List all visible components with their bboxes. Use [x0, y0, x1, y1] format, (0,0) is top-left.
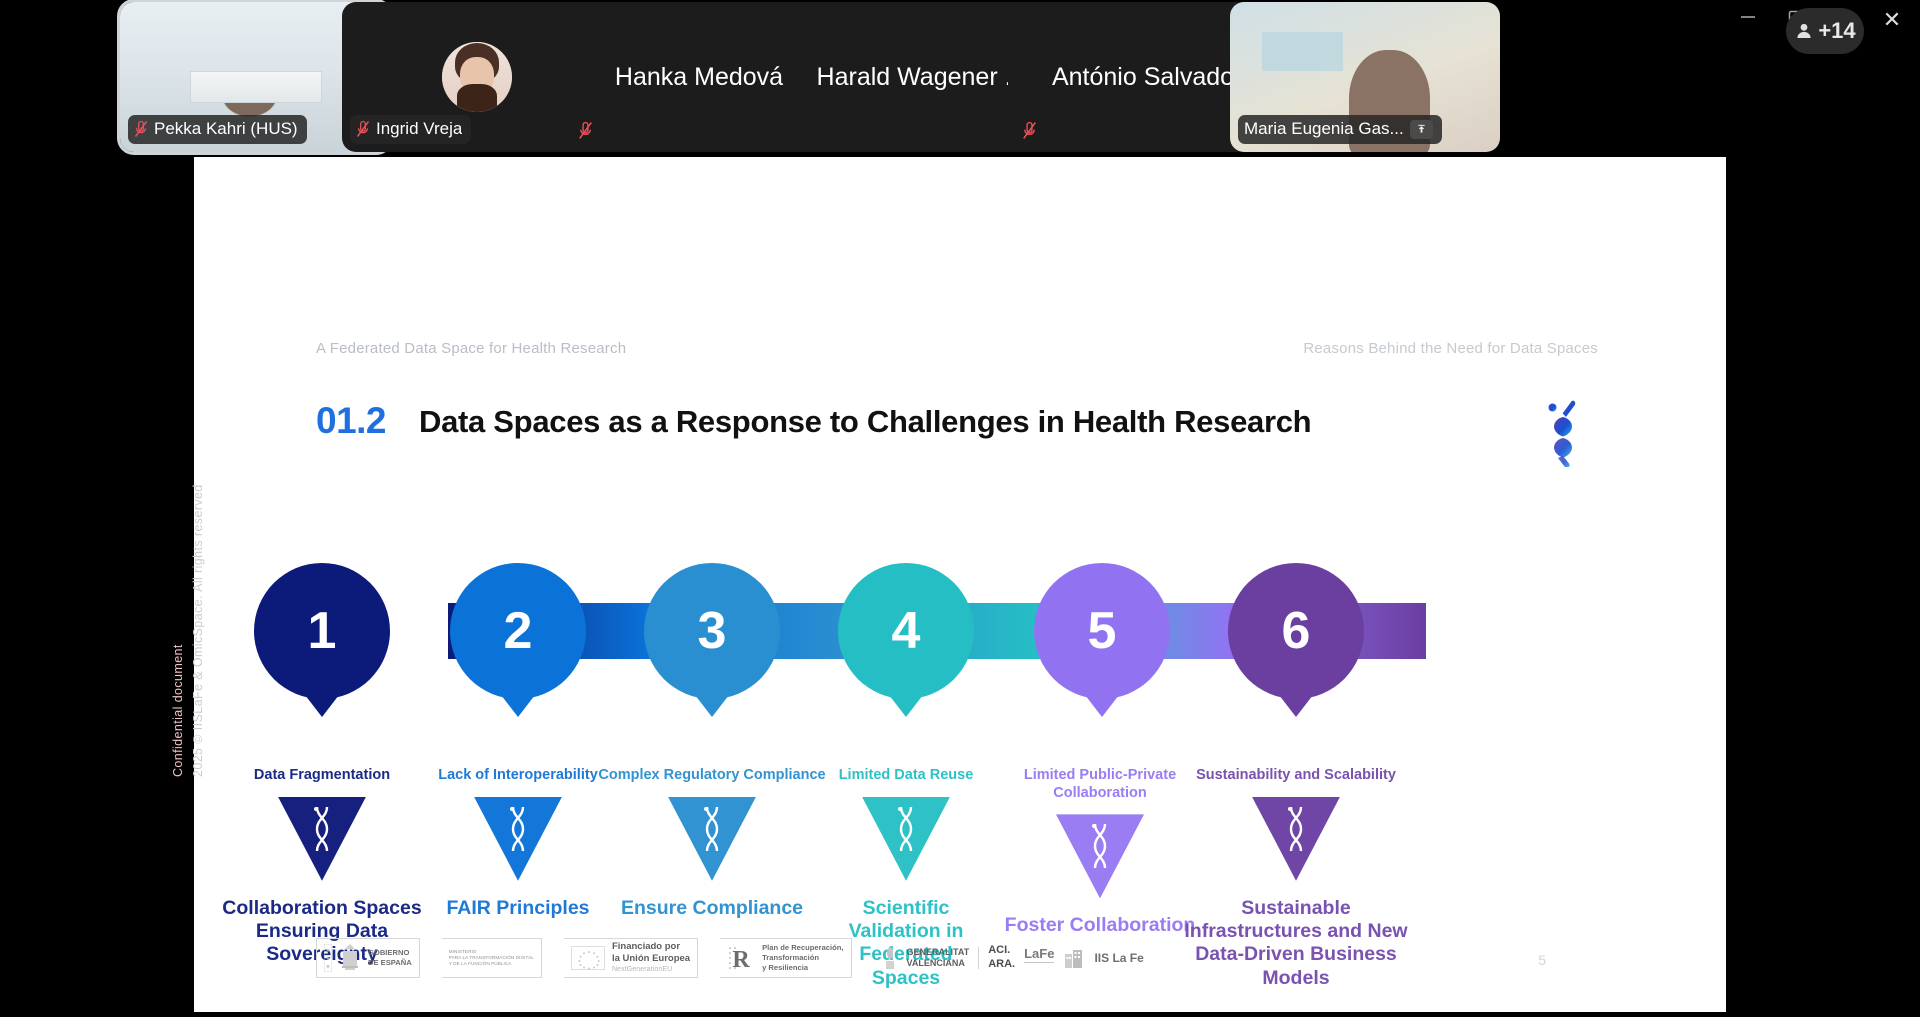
mic-off-icon: [356, 120, 370, 138]
building-icon: [1063, 947, 1085, 969]
divider: [978, 947, 979, 969]
timeline-node-4[interactable]: 4: [838, 563, 974, 699]
problem-label: Sustainability and Scalability: [1181, 767, 1411, 785]
down-triangle: [1056, 814, 1144, 898]
presentation-slide[interactable]: A Federated Data Space for Health Resear…: [194, 157, 1726, 1012]
plan-r-icon: R: [727, 944, 755, 972]
ministerio-label: MINISTERIO PARA LA TRANSFORMACIÓN DIGITA…: [449, 949, 534, 968]
gobierno-label: GOBIERNODE ESPAÑA: [368, 948, 412, 968]
footer-logo-strip: ★ ★ ★ GOBIERNODE ESPAÑA MINISTERIO PARA …: [316, 938, 1144, 978]
helix-icon: [1283, 803, 1309, 859]
eu-funding-label: Financiado por la Unión Europea NextGene…: [612, 941, 690, 974]
flag-icon: ★ ★ ★: [324, 944, 332, 972]
solution-label: Sustainable Infrastructures and New Data…: [1181, 897, 1411, 991]
helix-icon: [505, 803, 531, 859]
svg-text:★: ★: [326, 948, 331, 954]
minimize-icon[interactable]: [1740, 10, 1756, 24]
ministerio-logo: MINISTERIO PARA LA TRANSFORMACIÓN DIGITA…: [442, 938, 542, 978]
down-triangle: [862, 797, 950, 881]
coat-of-arms-icon: [339, 943, 361, 973]
timeline-node-6[interactable]: 6: [1228, 563, 1364, 699]
mic-off-icon: [1022, 121, 1037, 140]
participant-name-chip: Pekka Kahri (HUS): [128, 115, 307, 144]
person-icon: [1794, 21, 1814, 41]
participant-name-chip: Ingrid Vreja: [350, 115, 471, 144]
timeline-node-3[interactable]: 3: [644, 563, 780, 699]
participants-count-badge[interactable]: +14: [1786, 8, 1864, 54]
helix-icon: [893, 803, 919, 859]
timeline-node-5[interactable]: 5: [1034, 563, 1170, 699]
aci-ara-label: ACI. ARA.: [988, 944, 1015, 972]
svg-text:★: ★: [326, 964, 331, 970]
plan-recuperacion-logo: R Plan de Recuperación, Transformación y…: [720, 938, 851, 978]
video-tile-strip: Pekka Kahri (HUS) Ingrid Vreja Hanka Med…: [0, 0, 1920, 155]
helix-icon: [1087, 820, 1113, 876]
page-number: 5: [1538, 952, 1546, 968]
confidential-stamp: Confidential document: [171, 644, 185, 777]
timeline-diagram: 1 2 3 4 5 6 Data Fragmentation: [194, 157, 1726, 1012]
generalitat-crest-icon: [882, 944, 898, 972]
plan-label: Plan de Recuperación, Transformación y R…: [762, 943, 843, 973]
video-tile[interactable]: Maria Eugenia Gas...: [1230, 2, 1500, 152]
gobierno-espana-logo: ★ ★ ★ GOBIERNODE ESPAÑA: [316, 938, 420, 978]
close-icon[interactable]: ✕: [1878, 6, 1906, 34]
down-triangle: [278, 797, 366, 881]
participants-count: +14: [1818, 18, 1855, 44]
participant-name: Maria Eugenia Gas...: [1244, 119, 1404, 139]
helix-icon: [309, 803, 335, 859]
avatar: [442, 42, 512, 112]
timeline-node-2[interactable]: 2: [450, 563, 586, 699]
participant-name: Ingrid Vreja: [376, 119, 462, 139]
node-number: 6: [1282, 601, 1311, 661]
helix-icon: [699, 803, 725, 859]
participant-name: Pekka Kahri (HUS): [154, 119, 298, 139]
lafe-logo: LaFe: [1024, 947, 1054, 970]
node-number: 3: [698, 601, 727, 661]
svg-text:R: R: [732, 947, 750, 972]
timeline-column-6: Sustainability and Scalability Sustainab…: [1181, 767, 1411, 990]
institution-logo-strip: GENERALITAT VALENCIANA ACI. ARA. LaFe II…: [882, 944, 1144, 972]
svg-text:★: ★: [326, 956, 331, 962]
generalitat-label: GENERALITAT VALENCIANA: [907, 947, 970, 970]
down-triangle: [668, 797, 756, 881]
participant-name-chip: Maria Eugenia Gas...: [1238, 115, 1442, 144]
triangle-icon-wrap: [1181, 797, 1411, 881]
down-triangle: [474, 797, 562, 881]
timeline-node-1[interactable]: 1: [254, 563, 390, 699]
node-number: 1: [308, 601, 337, 661]
mic-off-icon: [578, 121, 593, 140]
mic-off-icon: [134, 120, 148, 138]
eu-funding-logo: Financiado por la Unión Europea NextGene…: [564, 938, 698, 978]
down-triangle: [1252, 797, 1340, 881]
pin-icon[interactable]: [1410, 120, 1433, 139]
eu-flag-icon: [571, 946, 605, 970]
node-number: 4: [892, 601, 921, 661]
node-number: 5: [1088, 601, 1117, 661]
node-number: 2: [504, 601, 533, 661]
iis-lafe-label: IIS La Fe: [1094, 951, 1143, 965]
